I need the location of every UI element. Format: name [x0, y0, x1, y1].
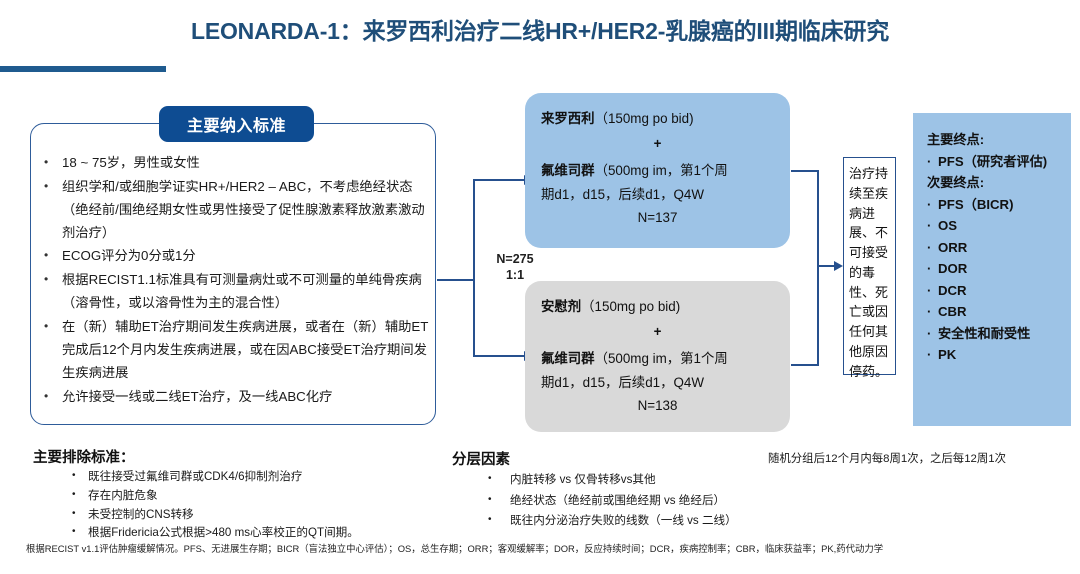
list-item: • 18 ~ 75岁，男性或女性	[42, 152, 434, 175]
randomization-split-line	[473, 179, 475, 357]
exclusion-criteria-list: •既往接受过氟维司群或CDK4/6抑制剂治疗 •存在内脏危象 •未受控制的CNS…	[72, 468, 472, 543]
list-item: •未受控制的CNS转移	[72, 506, 472, 525]
arm-drug-name: 氟维司群	[541, 351, 595, 366]
bullet-icon: ·	[927, 151, 938, 173]
collector-join-line	[817, 170, 819, 366]
exclusion-item-0: 既往接受过氟维司群或CDK4/6抑制剂治疗	[88, 468, 303, 487]
page-title: LEONARDA-1：来罗西利治疗二线HR+/HER2-乳腺癌的III期临床研究	[0, 12, 1080, 46]
bullet-icon: ·	[927, 301, 938, 323]
arm-sample-size: N=138	[541, 394, 774, 418]
bullet-icon: ·	[927, 194, 938, 216]
title-accent-rule	[0, 66, 166, 72]
arrow-head-icon	[834, 261, 843, 271]
randomization-branch-upper	[473, 179, 531, 181]
list-item: • 允许接受一线或二线ET治疗，及一线ABC化疗	[42, 386, 434, 409]
list-item: ·PFS（研究者评估)	[927, 151, 1071, 173]
bullet-icon: •	[42, 316, 62, 337]
stratification-item-1: 绝经状态（绝经前或围绝经期 vs 绝经后）	[510, 491, 725, 512]
list-item: ·OS	[927, 215, 1071, 237]
stratification-title: 分层因素	[452, 448, 510, 469]
bullet-icon: •	[488, 511, 510, 532]
secondary-endpoint-3: DOR	[938, 261, 967, 276]
treatment-duration-box: 治疗持续至疾病进展、不可接受的毒性、死亡或因任何其他原因停药。	[843, 157, 896, 375]
exclusion-item-1: 存在内脏危象	[88, 487, 158, 506]
secondary-endpoint-2: ORR	[938, 240, 967, 255]
treatment-arm-control: 安慰剂（150mg po bid) + 氟维司群（500mg im，第1个周 期…	[525, 281, 790, 432]
bullet-icon: •	[72, 487, 88, 506]
bullet-icon: •	[42, 176, 62, 197]
assessment-schedule-note: 随机分组后12个月内每8周1次，之后每12周1次	[768, 450, 1006, 466]
list-item: •绝经状态（绝经前或围绝经期 vs 绝经后）	[488, 491, 818, 512]
arm-sample-size: N=137	[541, 206, 774, 230]
collector-branch-upper	[791, 170, 819, 172]
randomization-n: N=275	[480, 252, 550, 268]
bullet-icon: ·	[927, 215, 938, 237]
bullet-icon: ·	[927, 258, 938, 280]
bullet-icon: •	[72, 468, 88, 487]
inclusion-item-2: ECOG评分为0分或1分	[62, 245, 434, 268]
treatment-arm-experimental: 来罗西利（150mg po bid) + 氟维司群（500mg im，第1个周 …	[525, 93, 790, 248]
inclusion-item-4: 在（新）辅助ET治疗期间发生疾病进展，或者在（新）辅助ET完成后12个月内发生疾…	[62, 316, 434, 385]
randomization-branch-lower	[473, 355, 531, 357]
bullet-icon: •	[72, 506, 88, 525]
arm-drug-dose: （500mg im，第1个周	[595, 163, 728, 178]
bullet-icon: •	[488, 470, 510, 491]
bullet-icon: •	[42, 245, 62, 266]
secondary-endpoint-1: OS	[938, 218, 957, 233]
list-item: • 组织学和/或细胞学证实HR+/HER2 – ABC，不考虑绝经状态（绝经前/…	[42, 176, 434, 245]
bullet-icon: •	[42, 152, 62, 173]
bullet-icon: ·	[927, 344, 938, 366]
list-item: • ECOG评分为0分或1分	[42, 245, 434, 268]
arm-drug-name: 安慰剂	[541, 299, 581, 314]
exclusion-criteria-title: 主要排除标准：	[33, 446, 135, 467]
secondary-endpoint-5: CBR	[938, 304, 967, 319]
list-item: •存在内脏危象	[72, 487, 472, 506]
inclusion-item-5: 允许接受一线或二线ET治疗，及一线ABC化疗	[62, 386, 434, 409]
bullet-icon: ·	[927, 237, 938, 259]
secondary-endpoint-4: DCR	[938, 283, 967, 298]
exclusion-item-2: 未受控制的CNS转移	[88, 506, 194, 525]
list-item: •内脏转移 vs 仅骨转移vs其他	[488, 470, 818, 491]
arm-line-drug1: 安慰剂（150mg po bid)	[541, 295, 774, 319]
secondary-endpoint-0: PFS（BICR)	[938, 197, 1013, 212]
list-item: ·DCR	[927, 280, 1071, 302]
list-item: • 根据RECIST1.1标准具有可测量病灶或不可测量的单纯骨疾病（溶骨性，或以…	[42, 269, 434, 315]
arm-drug-dose: （150mg po bid)	[581, 299, 680, 314]
collector-branch-lower	[791, 364, 819, 366]
inclusion-item-1: 组织学和/或细胞学证实HR+/HER2 – ABC，不考虑绝经状态（绝经前/围绝…	[62, 176, 434, 245]
footnote-abbreviations: 根据RECIST v1.1评估肿瘤缓解情况。PFS、无进展生存期；BICR（盲法…	[26, 541, 1066, 555]
list-item: • 在（新）辅助ET治疗期间发生疾病进展，或者在（新）辅助ET完成后12个月内发…	[42, 316, 434, 385]
randomization-label: N=275 1:1	[480, 252, 550, 283]
endpoints-panel: 主要终点: ·PFS（研究者评估) 次要终点: ·PFS（BICR) ·OS ·…	[913, 113, 1071, 426]
list-item: ·PK	[927, 344, 1071, 366]
list-item: ·ORR	[927, 237, 1071, 259]
arm-drug-dose: （500mg im，第1个周	[595, 351, 728, 366]
arm-plus-sign: +	[541, 132, 774, 156]
bullet-icon: ·	[927, 323, 938, 345]
arm-drug-name: 来罗西利	[541, 111, 595, 126]
arm-line-drug2-cont: 期d1，d15，后续d1，Q4W	[541, 371, 774, 395]
arm-line-drug2: 氟维司群（500mg im，第1个周	[541, 347, 774, 371]
bullet-icon: •	[42, 269, 62, 290]
randomization-connector-in	[437, 279, 475, 281]
secondary-endpoint-7: PK	[938, 347, 956, 362]
arm-line-drug1: 来罗西利（150mg po bid)	[541, 107, 774, 131]
inclusion-criteria-tab: 主要纳入标准	[159, 106, 314, 142]
stratification-item-0: 内脏转移 vs 仅骨转移vs其他	[510, 470, 656, 491]
arm-drug-name: 氟维司群	[541, 163, 595, 178]
secondary-endpoint-6: 安全性和耐受性	[938, 326, 1030, 341]
arm-line-drug2-cont: 期d1，d15，后续d1，Q4W	[541, 183, 774, 207]
primary-endpoints-heading: 主要终点:	[927, 129, 1071, 151]
bullet-icon: •	[42, 386, 62, 407]
inclusion-item-3: 根据RECIST1.1标准具有可测量病灶或不可测量的单纯骨疾病（溶骨性，或以溶骨…	[62, 269, 434, 315]
arm-line-drug2: 氟维司群（500mg im，第1个周	[541, 159, 774, 183]
arm-drug-dose: （150mg po bid)	[595, 111, 694, 126]
slide-canvas: LEONARDA-1：来罗西利治疗二线HR+/HER2-乳腺癌的III期临床研究…	[0, 0, 1080, 574]
list-item: ·DOR	[927, 258, 1071, 280]
inclusion-item-0: 18 ~ 75岁，男性或女性	[62, 152, 434, 175]
list-item: •既往内分泌治疗失败的线数（一线 vs 二线）	[488, 511, 818, 532]
bullet-icon: •	[488, 491, 510, 512]
stratification-list: •内脏转移 vs 仅骨转移vs其他 •绝经状态（绝经前或围绝经期 vs 绝经后）…	[488, 470, 818, 532]
inclusion-criteria-list: • 18 ~ 75岁，男性或女性 • 组织学和/或细胞学证实HR+/HER2 –…	[42, 152, 434, 409]
bullet-icon: ·	[927, 280, 938, 302]
list-item: ·CBR	[927, 301, 1071, 323]
list-item: •既往接受过氟维司群或CDK4/6抑制剂治疗	[72, 468, 472, 487]
list-item: ·PFS（BICR)	[927, 194, 1071, 216]
primary-endpoint-0: PFS（研究者评估)	[938, 154, 1047, 169]
arm-plus-sign: +	[541, 320, 774, 344]
list-item: ·安全性和耐受性	[927, 323, 1071, 345]
stratification-item-2: 既往内分泌治疗失败的线数（一线 vs 二线）	[510, 511, 737, 532]
secondary-endpoints-heading: 次要终点:	[927, 172, 1071, 194]
